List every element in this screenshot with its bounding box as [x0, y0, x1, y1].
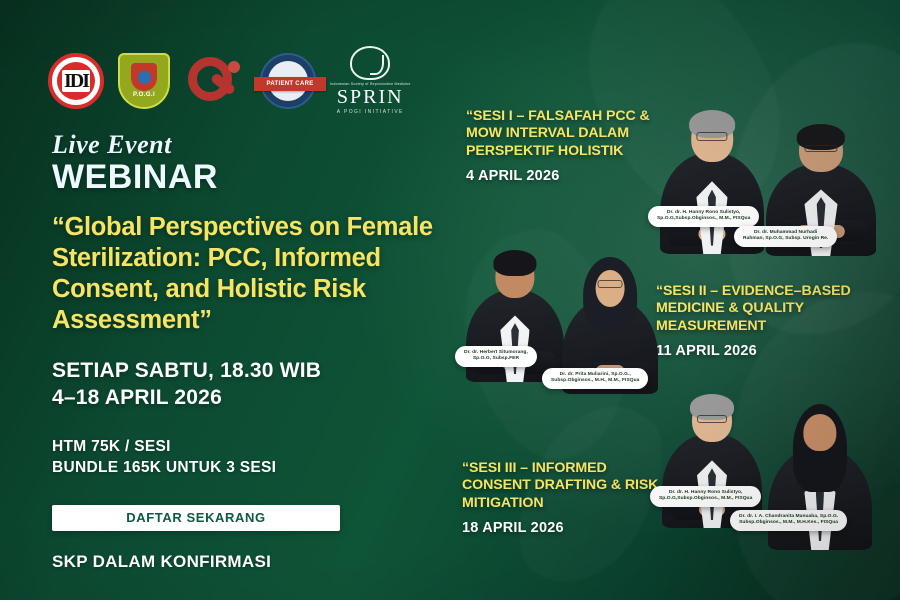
- idi-logo: IDI: [48, 53, 104, 109]
- speaker-nametag: Dr. dr. Muhammad Nurhadi Rahman, Sp.O.G,…: [734, 226, 837, 247]
- pcc-ribbon-label: PATIENT CARE: [266, 81, 313, 87]
- speaker-nametag: Dr. dr. H. Hanny Rono Sulistyo, Sp.O.G,S…: [650, 486, 761, 507]
- primary-info-column: Live Event WEBINAR “Global Perspectives …: [52, 132, 452, 570]
- pogi-shield-icon: [131, 63, 157, 91]
- session-1-speaker-photos: Dr. dr. H. Hanny Rono Sulistyo, Sp.O.G,S…: [648, 96, 898, 256]
- sprin-logo-subtitle: A POGI INITIATIVE: [337, 110, 404, 115]
- schedule-day-time: SETIAP SABTU, 18.30 WIB: [52, 358, 452, 384]
- skp-note: SKP DALAM KONFIRMASI: [52, 553, 452, 570]
- speaker-credentials: Subsp.Obginsos., M.M., M.H.Kes., FISQua: [739, 520, 838, 526]
- organizer-logo-strip: IDI P.O.G.I PATIENT CARE Indonesian Soci…: [48, 46, 411, 115]
- pricing-block: HTM 75K / SESI BUNDLE 165K UNTUK 3 SESI: [52, 437, 452, 479]
- session-3-date: 18 APRIL 2026: [462, 521, 672, 536]
- pogi-logo-label: P.O.G.I: [133, 92, 155, 98]
- speaker-nametag: Dr. dr. Herbert Situmorang, Sp.O.G, Subs…: [455, 346, 537, 367]
- pcc-ribbon: PATIENT CARE: [254, 77, 326, 91]
- q-logo: [184, 53, 246, 109]
- idi-logo-label: IDI: [62, 70, 90, 92]
- idi-logo-inner: IDI: [57, 62, 95, 100]
- patient-centered-care-institute-logo: PATIENT CARE: [260, 53, 316, 109]
- session-2-date: 11 APRIL 2026: [656, 344, 886, 359]
- speaker-credentials: Sp.O.G,Subsp.Obginsos., M.M., FISQua: [657, 216, 750, 222]
- pogi-logo: P.O.G.I: [118, 53, 170, 109]
- speaker-credentials: Sp.O.G,Subsp.Obginsos., M.M., FISQua: [659, 496, 752, 502]
- register-button[interactable]: DAFTAR SEKARANG: [52, 505, 340, 531]
- session-2-speaker-photos: Dr. dr. Herbert Situmorang, Sp.O.G, Subs…: [458, 248, 658, 398]
- session-3-title: “SESI III – INFORMED CONSENT DRAFTING & …: [462, 460, 672, 512]
- price-bundle: BUNDLE 165K UNTUK 3 SESI: [52, 458, 452, 479]
- sprin-logo-wordmark: SPRIN: [337, 87, 404, 107]
- speaker-nametag: Dr. dr. I. A. Chandranita Manuaba, Sp.O.…: [730, 510, 847, 531]
- speaker-nametag: Dr. dr. H. Hanny Rono Sulistyo, Sp.O.G,S…: [648, 206, 759, 227]
- schedule-block: SETIAP SABTU, 18.30 WIB 4–18 APRIL 2026: [52, 358, 452, 411]
- webinar-poster: IDI P.O.G.I PATIENT CARE Indonesian Soci…: [0, 0, 900, 600]
- session-2-title: “SESI II – EVIDENCE–BASED MEDICINE & QUA…: [656, 283, 886, 335]
- sprin-woman-face-icon: [350, 46, 390, 80]
- speaker-nametag: Dr. dr. Prita Muliarini, Sp.O.G., Subsp.…: [542, 368, 648, 389]
- session-3-info: “SESI III – INFORMED CONSENT DRAFTING & …: [462, 460, 672, 535]
- live-event-kicker: Live Event: [52, 132, 452, 158]
- speaker-credentials: Sp.O.G, Subsp.FER: [464, 356, 528, 362]
- session-2-info: “SESI II – EVIDENCE–BASED MEDICINE & QUA…: [656, 283, 886, 358]
- register-button-label: DAFTAR SEKARANG: [126, 511, 265, 524]
- price-per-session: HTM 75K / SESI: [52, 437, 452, 458]
- page-title: “Global Perspectives on Female Steriliza…: [52, 212, 452, 336]
- speaker-photo-hanny-rono: [662, 398, 762, 528]
- q-logo-dot: [228, 61, 240, 73]
- sprin-logo: Indonesian Society of Reproductive Medic…: [330, 46, 411, 115]
- schedule-date-range: 4–18 APRIL 2026: [52, 385, 452, 411]
- session-3-speaker-photos: Dr. dr. H. Hanny Rono Sulistyo, Sp.O.G,S…: [650, 398, 900, 550]
- speaker-credentials: Subsp.Obginsos., M.H., M.M., FISQua: [551, 378, 639, 384]
- webinar-heading: WEBINAR: [52, 160, 452, 194]
- speaker-credentials: Rahman, Sp.O.G, Subsp. Urogin Re.: [743, 236, 828, 242]
